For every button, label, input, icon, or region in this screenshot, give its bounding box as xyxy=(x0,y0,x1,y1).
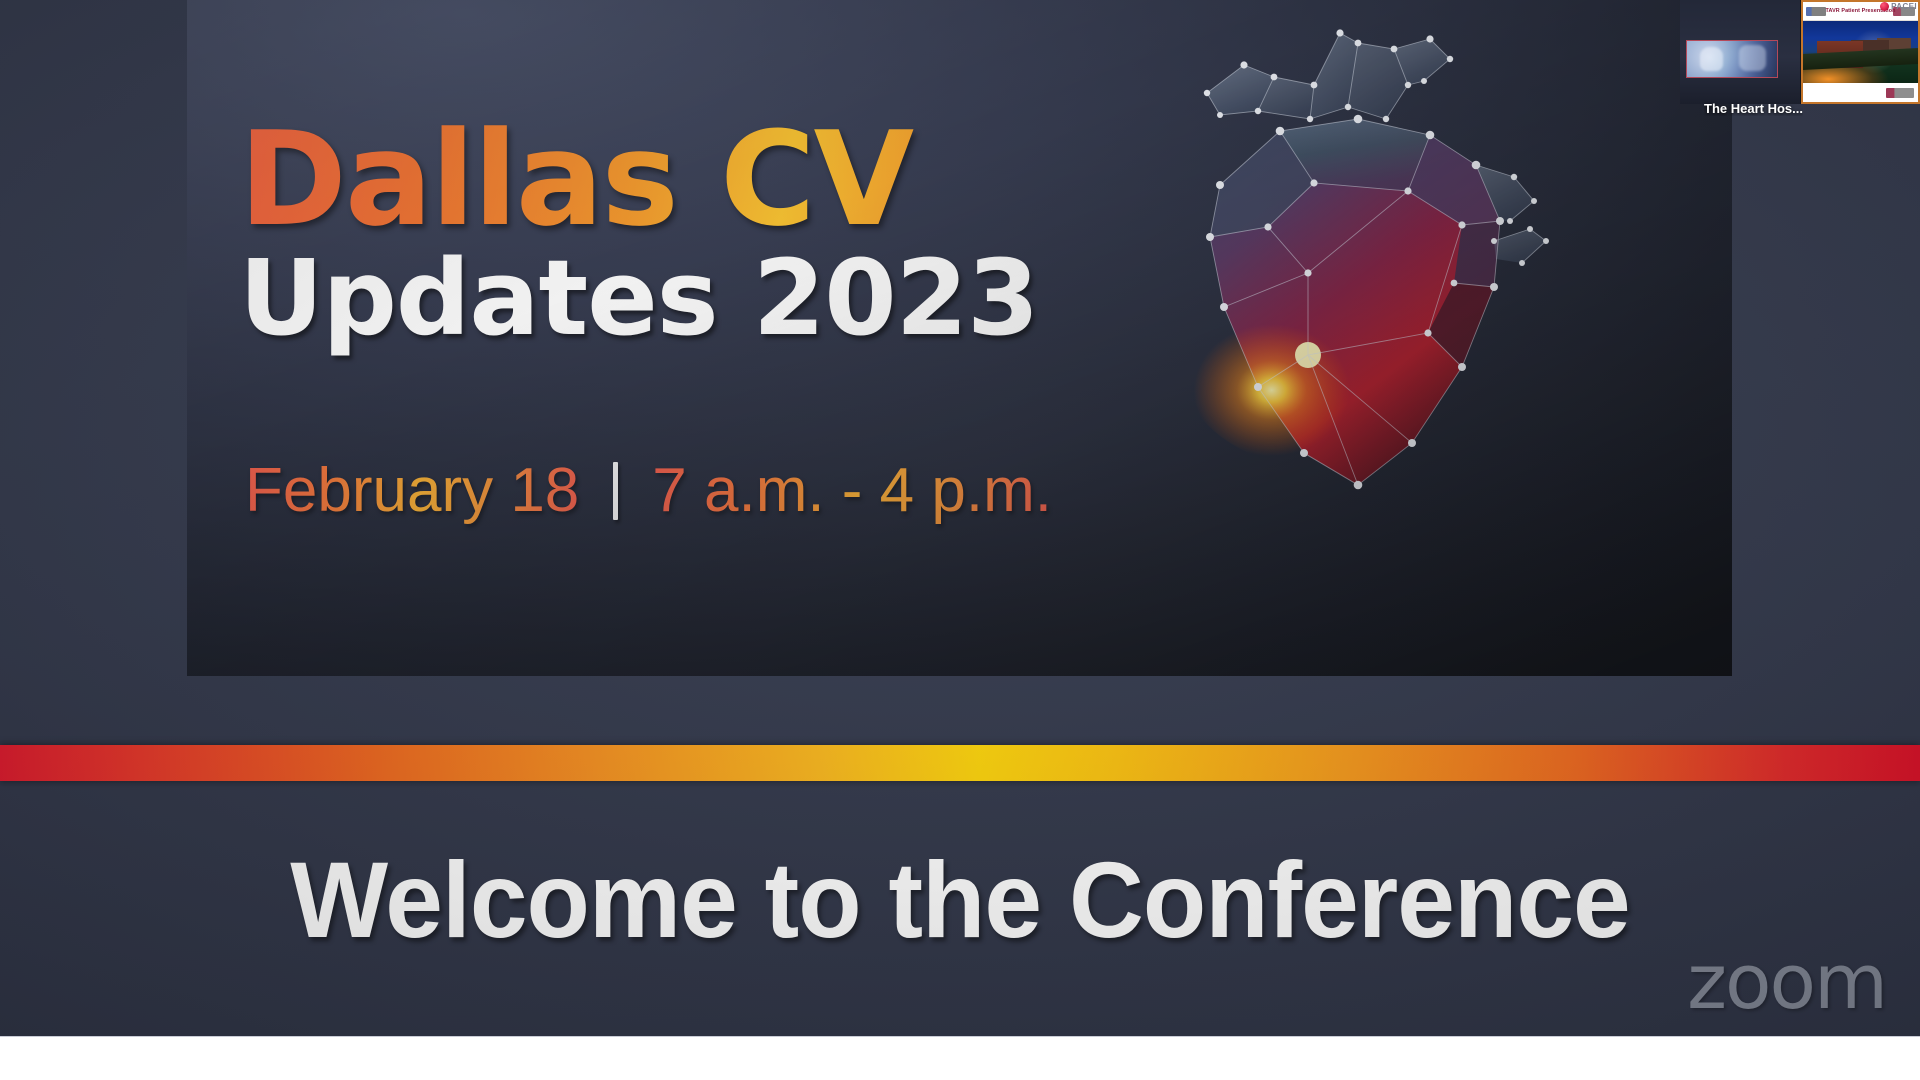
participant-thumbnail-strip[interactable]: TAVR Patient Presentation PACEI xyxy=(1680,0,1920,118)
zoom-logo-watermark: zoom xyxy=(1687,937,1886,1026)
slide-preview-content: TAVR Patient Presentation xyxy=(1801,0,1920,104)
gradient-divider-bar xyxy=(0,745,1920,781)
meta-divider xyxy=(613,462,618,520)
shared-screen-region[interactable]: Dallas CV Updates 2023 February 18 7 a.m… xyxy=(0,0,1920,1036)
event-title-main: Dallas CV xyxy=(239,118,1119,242)
slide-title-block: Dallas CV Updates 2023 xyxy=(239,118,1119,354)
presentation-slide-panel: Dallas CV Updates 2023 February 18 7 a.m… xyxy=(187,0,1732,676)
event-date-time-line: February 18 7 a.m. - 4 p.m. xyxy=(245,455,1052,526)
slide-preview-photo xyxy=(1803,21,1918,87)
pacei-sponsor-mark: PACEI xyxy=(1880,2,1917,11)
pacei-dot-icon xyxy=(1880,2,1889,11)
slide-preview-footer xyxy=(1803,83,1918,102)
low-poly-heart-icon xyxy=(1162,15,1562,535)
event-date: February 18 xyxy=(245,455,579,526)
slide-preview-footer-logo xyxy=(1886,88,1914,98)
bottom-chrome-strip xyxy=(0,1036,1920,1080)
zoom-fullscreen-stage: Dallas CV Updates 2023 February 18 7 a.m… xyxy=(0,0,1920,1080)
pacei-label: PACEI xyxy=(1891,2,1917,11)
slide-preview-left-logo xyxy=(1806,7,1826,16)
event-title-subtitle: Updates 2023 xyxy=(239,242,1119,354)
event-time: 7 a.m. - 4 p.m. xyxy=(652,455,1052,526)
self-view-thumbnail[interactable] xyxy=(1680,0,1800,104)
shared-slide-thumbnail[interactable]: TAVR Patient Presentation xyxy=(1800,0,1920,104)
welcome-headline: Welcome to the Conference xyxy=(38,846,1881,954)
self-view-image xyxy=(1686,40,1778,78)
